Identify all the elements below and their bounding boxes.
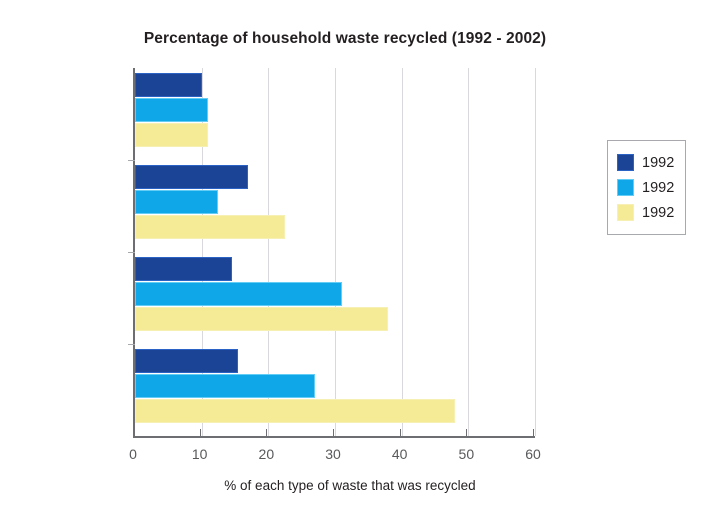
plot-area: PlasticCansPaperGlass bbox=[133, 68, 535, 436]
x-axis-tick bbox=[333, 429, 334, 436]
bar-group bbox=[135, 257, 535, 331]
x-axis-tick bbox=[466, 429, 467, 436]
x-axis-tick-label: 60 bbox=[513, 446, 553, 462]
chart-title: Percentage of household waste recycled (… bbox=[0, 30, 690, 48]
bar-group bbox=[135, 73, 535, 147]
y-axis-tick bbox=[128, 252, 135, 253]
x-axis-tick bbox=[533, 429, 534, 436]
bar bbox=[135, 98, 208, 122]
x-axis-tick-label: 20 bbox=[246, 446, 286, 462]
bar bbox=[135, 374, 315, 398]
x-axis-tick-label: 40 bbox=[380, 446, 420, 462]
x-axis-tick-label: 0 bbox=[113, 446, 153, 462]
x-axis-title: % of each type of waste that was recycle… bbox=[0, 478, 700, 493]
bar bbox=[135, 349, 238, 373]
bar bbox=[135, 399, 455, 423]
bar bbox=[135, 215, 285, 239]
legend-item-label: 1992 bbox=[642, 180, 674, 196]
y-axis-tick bbox=[128, 160, 135, 161]
x-axis-tick-label: 10 bbox=[180, 446, 220, 462]
legend-item[interactable]: 1992 bbox=[617, 175, 674, 200]
recycling-bar-chart: Percentage of household waste recycled (… bbox=[0, 0, 720, 521]
legend-item-label: 1992 bbox=[642, 155, 674, 171]
legend-item[interactable]: 1992 bbox=[617, 200, 674, 225]
y-axis-tick bbox=[128, 344, 135, 345]
legend-swatch-icon bbox=[617, 179, 634, 196]
x-axis-tick bbox=[266, 429, 267, 436]
bar bbox=[135, 73, 202, 97]
legend-item[interactable]: 1992 bbox=[617, 150, 674, 175]
gridline bbox=[535, 68, 536, 436]
x-axis-line bbox=[133, 436, 535, 438]
x-axis-tick bbox=[133, 429, 134, 436]
bar-group bbox=[135, 165, 535, 239]
bar-group bbox=[135, 349, 535, 423]
bar bbox=[135, 190, 218, 214]
x-axis-tick bbox=[200, 429, 201, 436]
bar bbox=[135, 165, 248, 189]
x-axis-tick bbox=[400, 429, 401, 436]
bar bbox=[135, 123, 208, 147]
bar bbox=[135, 307, 388, 331]
legend-swatch-icon bbox=[617, 154, 634, 171]
x-axis-tick-label: 50 bbox=[446, 446, 486, 462]
legend-item-label: 1992 bbox=[642, 205, 674, 221]
x-axis-tick-label: 30 bbox=[313, 446, 353, 462]
bar bbox=[135, 282, 342, 306]
legend-swatch-icon bbox=[617, 204, 634, 221]
bar bbox=[135, 257, 232, 281]
chart-legend: 1992 1992 1992 bbox=[607, 140, 686, 235]
